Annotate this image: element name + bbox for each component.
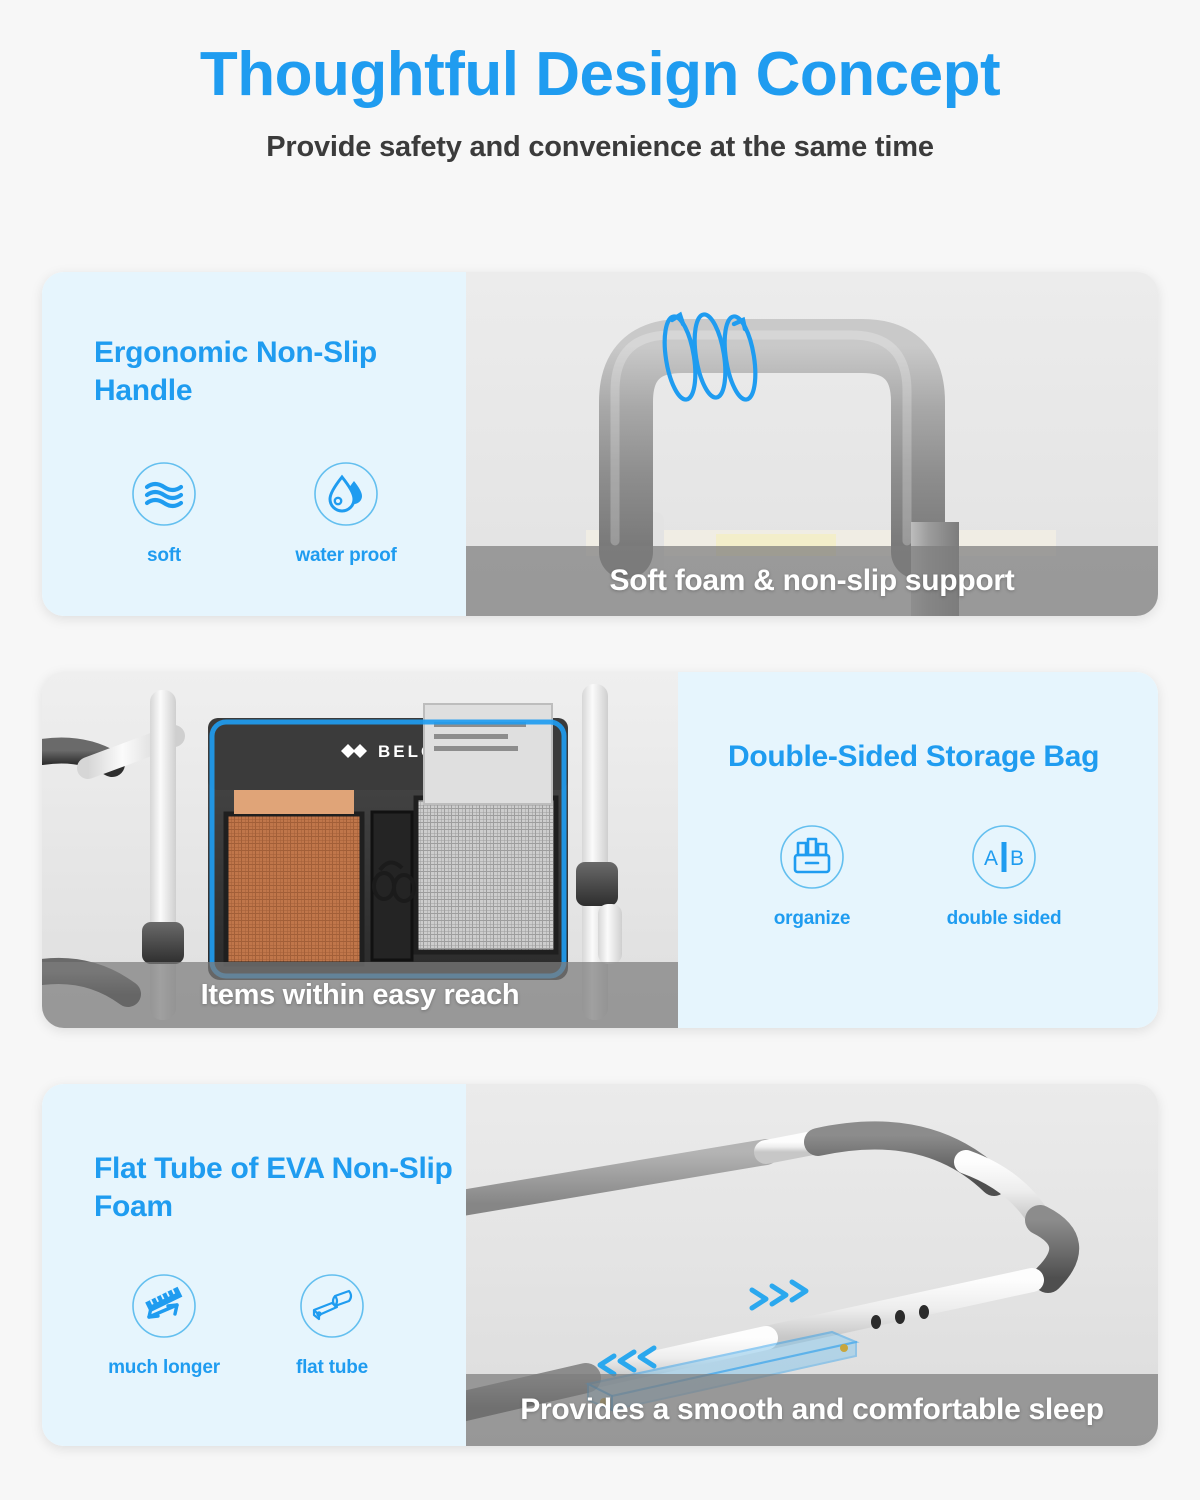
- info-panel-handle: Ergonomic Non-Slip Handle sof: [42, 272, 466, 616]
- waves-icon: [131, 461, 197, 527]
- feature-label: flat tube: [262, 1357, 402, 1379]
- feature-card-handle: Ergonomic Non-Slip Handle sof: [42, 272, 1158, 616]
- feature-card-flat-tube: Flat Tube of EVA Non-Slip Foam: [42, 1084, 1158, 1446]
- page-header: Thoughtful Design Concept Provide safety…: [0, 0, 1200, 164]
- feature-list: organize A B double sided: [742, 824, 1158, 930]
- info-panel-storage-bag: Double-Sided Storage Bag: [678, 672, 1158, 1028]
- card-title: Double-Sided Storage Bag: [728, 738, 1158, 776]
- feature-card-storage-bag: BELOF: [42, 672, 1158, 1028]
- photo-caption: Items within easy reach: [42, 962, 678, 1028]
- svg-text:B: B: [1010, 847, 1024, 870]
- product-photo-handle: Soft foam & non-slip support: [466, 272, 1158, 616]
- page-title: Thoughtful Design Concept: [0, 42, 1200, 107]
- feature-flat-tube: flat tube: [262, 1273, 402, 1379]
- svg-text:A: A: [984, 847, 998, 870]
- feature-label: water proof: [276, 545, 416, 567]
- ab-split-icon: A B: [971, 824, 1037, 890]
- flat-tube-icon: [299, 1273, 365, 1339]
- feature-label: organize: [742, 908, 882, 930]
- product-photo-flat-tube: Provides a smooth and comfortable sleep: [466, 1084, 1158, 1446]
- ruler-arrows-icon: [131, 1273, 197, 1339]
- product-photo-storage-bag: BELOF: [42, 672, 678, 1028]
- feature-organize: organize: [742, 824, 882, 930]
- feature-label: double sided: [934, 908, 1074, 930]
- feature-label: much longer: [94, 1357, 234, 1379]
- feature-double-sided: A B double sided: [934, 824, 1074, 930]
- photo-caption: Soft foam & non-slip support: [466, 546, 1158, 616]
- photo-caption: Provides a smooth and comfortable sleep: [466, 1374, 1158, 1446]
- feature-water-proof: water proof: [276, 461, 416, 567]
- infographic-page: Thoughtful Design Concept Provide safety…: [0, 0, 1200, 1500]
- feature-list: soft water proof: [94, 461, 466, 567]
- feature-label: soft: [94, 545, 234, 567]
- feature-list: much longer: [94, 1273, 466, 1379]
- storage-box-icon: [779, 824, 845, 890]
- card-title: Flat Tube of EVA Non-Slip Foam: [94, 1150, 466, 1227]
- water-drop-icon: [313, 461, 379, 527]
- feature-soft: soft: [94, 461, 234, 567]
- feature-much-longer: much longer: [94, 1273, 234, 1379]
- card-title: Ergonomic Non-Slip Handle: [94, 334, 466, 411]
- info-panel-flat-tube: Flat Tube of EVA Non-Slip Foam: [42, 1084, 466, 1446]
- page-subtitle: Provide safety and convenience at the sa…: [0, 131, 1200, 164]
